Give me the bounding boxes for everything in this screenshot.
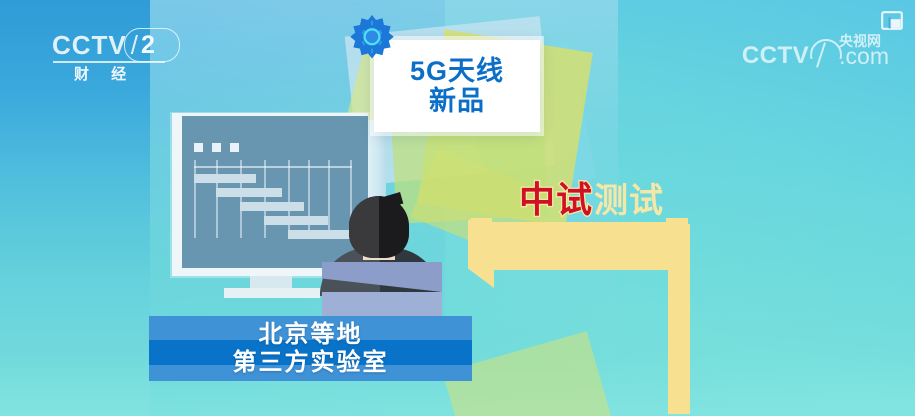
gantt-gridline xyxy=(308,160,310,238)
gantt-bar xyxy=(216,188,282,197)
gantt-gridline xyxy=(288,160,290,238)
location-banner: 北京等地 第三方实验室 xyxy=(149,316,472,381)
gantt-gridline xyxy=(194,160,196,238)
cctv-com-watermark: CCTV .com 央视网 xyxy=(742,34,889,68)
watermark-chinese: 央视网 xyxy=(839,31,881,51)
gantt-bar xyxy=(264,216,328,225)
gantt-gridline xyxy=(240,160,242,238)
cctv-channel-number: 2 xyxy=(141,33,155,58)
gantt-gridline xyxy=(328,160,330,238)
title-line-1: 5G天线 xyxy=(410,57,504,85)
left-turning-arrow-icon xyxy=(468,218,718,416)
monitor-base xyxy=(224,288,320,298)
broadcast-frame: 5G天线 新品 北京等地 第三方实验室 中试 xyxy=(0,0,915,416)
gantt-bar xyxy=(240,202,304,211)
gear-icon xyxy=(348,12,396,60)
title-line-2: 新品 xyxy=(429,87,485,115)
screen-dot xyxy=(194,143,203,152)
screen-dot xyxy=(230,143,239,152)
flow-caption-primary: 中试 xyxy=(519,182,593,218)
gantt-gridline xyxy=(264,160,266,238)
monitor-screen xyxy=(182,116,368,268)
cctv-channel-subtitle: 财 经 xyxy=(74,63,135,84)
title-card: 5G天线 新品 xyxy=(374,40,540,132)
flow-caption: 中试 测试 xyxy=(519,182,664,218)
cctv-slash: / xyxy=(131,32,138,58)
banner-band-bottom xyxy=(149,365,472,381)
watermark-brand: CCTV xyxy=(742,44,809,68)
screen-dot xyxy=(212,143,221,152)
watermark-arc-icon xyxy=(808,38,842,68)
picture-in-picture-icon[interactable] xyxy=(881,11,903,30)
gantt-bar xyxy=(194,174,256,183)
gantt-gridline xyxy=(216,160,218,238)
cctv-wordmark: CCTV xyxy=(52,32,127,58)
flow-caption-secondary: 测试 xyxy=(594,184,664,218)
gantt-bar xyxy=(288,230,352,239)
cctv-2-logo: CCTV / 2 财 经 xyxy=(52,30,180,86)
banner-band-top xyxy=(149,316,472,340)
banner-band-mid xyxy=(149,340,472,365)
